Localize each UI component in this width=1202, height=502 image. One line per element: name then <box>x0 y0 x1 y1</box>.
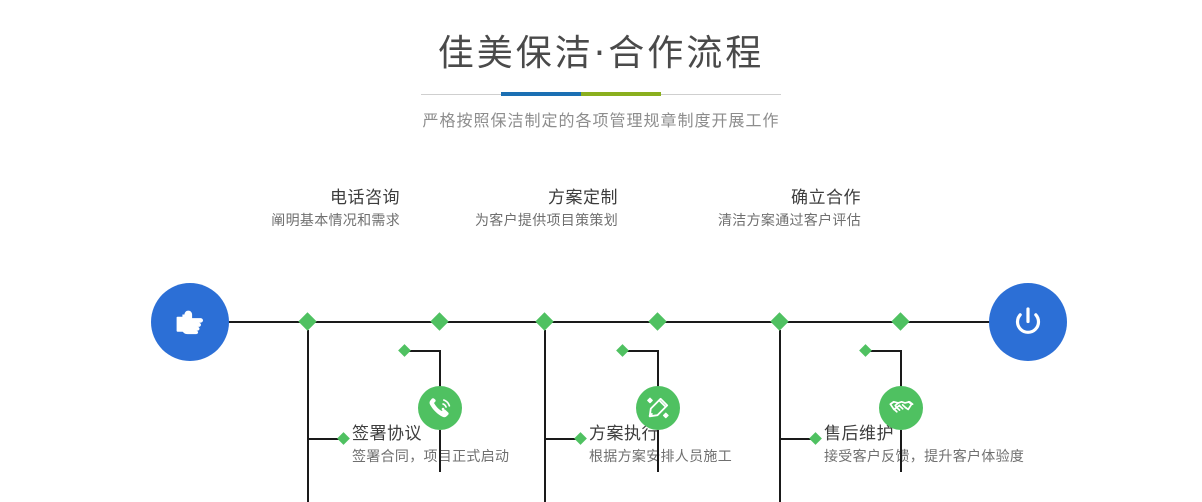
axis-marker-5 <box>891 312 909 330</box>
page-title: 佳美保洁·合作流程 <box>0 30 1202 78</box>
step-label-5: 确立合作 清洁方案通过客户评估 <box>526 186 861 232</box>
handshake-icon <box>887 394 915 422</box>
step-title-6: 售后维护 <box>824 422 1174 446</box>
axis-marker-1 <box>430 312 448 330</box>
step-connector-v-4 <box>544 330 546 502</box>
page-subtitle: 严格按照保洁制定的各项管理规章制度开展工作 <box>0 110 1202 132</box>
timeline-end-node <box>989 283 1067 361</box>
step-connector-v-3b <box>657 430 659 472</box>
axis-marker-3 <box>648 312 666 330</box>
step-connector-v-5b <box>900 430 902 472</box>
step-tick-5 <box>859 344 872 357</box>
step-tick-1 <box>398 344 411 357</box>
header: 佳美保洁·合作流程 严格按照保洁制定的各项管理规章制度开展工作 <box>0 30 1202 132</box>
phone-call-icon <box>426 394 454 422</box>
pencil-ruler-icon <box>644 394 672 422</box>
pointing-hand-icon <box>170 302 210 342</box>
divider-segment-blue <box>501 92 581 96</box>
step-connector-v-6 <box>779 330 781 502</box>
step-desc-5: 清洁方案通过客户评估 <box>526 210 861 232</box>
timeline-start-node <box>151 283 229 361</box>
step-desc-6: 接受客户反馈，提升客户体验度 <box>824 446 1174 468</box>
axis-marker-2 <box>298 312 316 330</box>
step-title-5: 确立合作 <box>526 186 861 210</box>
step-tick-2 <box>337 432 350 445</box>
step-connector-v-1b <box>439 430 441 472</box>
step-connector-v-1 <box>439 350 441 388</box>
power-icon <box>1006 300 1050 344</box>
step-icon-3[interactable] <box>636 386 680 430</box>
step-tick-3 <box>616 344 629 357</box>
step-icon-5[interactable] <box>879 386 923 430</box>
cooperation-process-infographic: 佳美保洁·合作流程 严格按照保洁制定的各项管理规章制度开展工作 <box>0 0 1202 502</box>
step-icon-1[interactable] <box>418 386 462 430</box>
step-connector-v-2 <box>307 330 309 502</box>
title-divider <box>421 88 781 102</box>
axis-marker-6 <box>770 312 788 330</box>
step-connector-v-3 <box>657 350 659 388</box>
axis-marker-4 <box>535 312 553 330</box>
step-connector-v-5 <box>900 350 902 388</box>
divider-segment-green <box>581 92 661 96</box>
step-label-6: 售后维护 接受客户反馈，提升客户体验度 <box>824 422 1174 468</box>
process-timeline: 电话咨询 阐明基本情况和需求 <box>0 150 1202 502</box>
